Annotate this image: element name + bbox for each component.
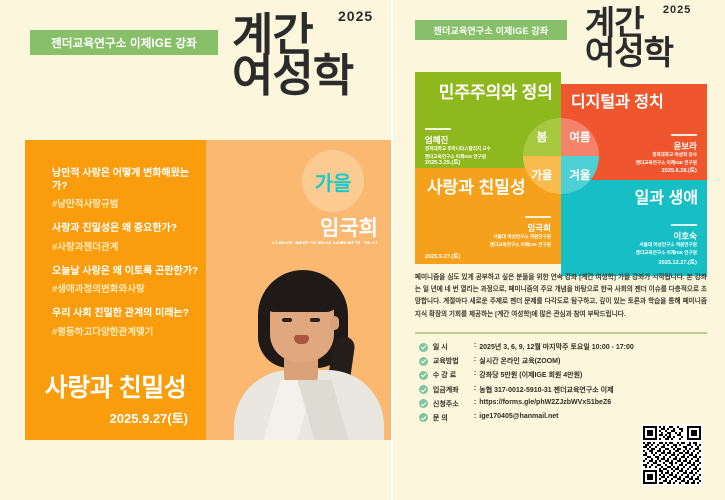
info-label: 교육방법 [433, 356, 471, 366]
signup-url[interactable]: https://forms.gle/phW2ZJzbWVxS1beZ6 [479, 399, 611, 406]
list-item: 신청주소 : https://forms.gle/phW2ZJzbWVxS1be… [419, 399, 667, 409]
page-title: 계간 여성학 [232, 14, 353, 97]
card-rule [425, 128, 451, 130]
info-value: 강좌당 5만원 (이제IGE 회원 4만원) [479, 370, 582, 380]
card-affiliation: 서울대 여성연구소 객원연구원 젠더교육연구소 이제IGE 연구원 [636, 241, 697, 257]
season-quadrant-autumn: 가을 [523, 156, 561, 194]
course-description: 페미니즘을 심도 있게 공부하고 싶은 분들을 위한 연속 강좌 [계간 여성학… [415, 272, 707, 321]
season-quadrant-summer: 여름 [561, 118, 599, 156]
info-value: 2025년 3, 6, 9, 12월 마지막주 토요일 10:00 - 17:0… [479, 342, 633, 352]
check-icon [419, 399, 428, 408]
card-date: 2025.9.27.(토) [425, 252, 460, 260]
left-lecturer-panel: 가을 임국희 서울대 협동과정여성학전공 강사 젠더교육연구소 이제IGE 연구… [206, 140, 391, 440]
list-item: 낭만적 사랑은 어떻게 변화해왔는가? #낭만적사랑규범 [52, 168, 202, 210]
card-rule [525, 216, 551, 218]
page-title: 계간 여성학 [585, 8, 673, 69]
question-text: 오늘날 사랑은 왜 이토록 곤란한가? [52, 266, 202, 279]
season-bubble: 가을 [302, 150, 364, 212]
info-separator: : [474, 399, 476, 406]
info-label: 입금계좌 [433, 385, 471, 395]
list-item: 오늘날 사랑은 왜 이토록 곤란한가? #생애과정의변화와사랑 [52, 266, 202, 296]
card-title: 일과 생애 [635, 190, 698, 208]
card-date: 2025.3.29.(토) [425, 158, 460, 166]
brand-badge: 젠더교육연구소 이제IGE 강좌 [30, 30, 218, 55]
left-poster: 젠더교육연구소 이제IGE 강좌 계간 여성학 2025 낭만적 사랑은 어떻게… [0, 0, 391, 500]
check-icon [419, 343, 428, 352]
card-winter[interactable]: 일과 생애 이호숙 서울대 여성연구소 객원연구원 젠더교육연구소 이제IGE … [561, 180, 707, 276]
list-item: 문 의 : ige170405@hanmail.net [419, 413, 667, 423]
question-hashtag: #사랑과젠더관계 [52, 239, 202, 253]
list-item: 교육방법 : 실시간 온라인 교육(ZOOM) [419, 356, 667, 366]
title-line-1: 계간 [232, 14, 353, 55]
qr-code-image [643, 426, 701, 484]
list-item: 우리 사회 친밀한 관계의 미래는? #평등하고다양한관계맺기 [52, 308, 202, 338]
lecturer-name: 임국희 [320, 212, 378, 242]
info-separator: : [474, 356, 476, 363]
question-hashtag: #평등하고다양한관계맺기 [52, 324, 202, 338]
card-title: 사랑과 친밀성 [427, 178, 526, 198]
title-line-2: 여성학 [232, 55, 353, 96]
affiliation-line-1: 서울대 여성연구소 객원연구원 [636, 241, 697, 249]
info-value: 실시간 온라인 교육(ZOOM) [479, 356, 560, 366]
lecturer-photo [206, 244, 391, 440]
affiliation-line-1: 경희대학교 여성학 강사 [636, 151, 697, 159]
question-text: 사랑과 친밀성은 왜 중요한가? [52, 223, 202, 236]
right-poster: 젠더교육연구소 이제IGE 강좌 계간 여성학 2025 민주주의와 정의 엄혜… [391, 0, 725, 500]
card-title: 디지털과 정치 [571, 94, 664, 112]
card-title: 민주주의와 정의 [439, 83, 553, 102]
hair-fringe [266, 278, 338, 312]
season-label: 가을 [315, 167, 352, 196]
info-label: 문 의 [433, 413, 471, 423]
info-separator: : [474, 385, 476, 392]
list-item: 일 시 : 2025년 3, 6, 9, 12월 마지막주 토요일 10:00 … [419, 342, 667, 352]
poster-pair-canvas: 젠더교육연구소 이제IGE 강좌 계간 여성학 2025 낭만적 사랑은 어떻게… [0, 0, 725, 500]
eye-right [310, 318, 320, 322]
info-separator: : [474, 413, 476, 420]
qr-code[interactable] [641, 424, 703, 486]
left-course-title: 사랑과 친밀성 [25, 368, 206, 404]
question-hashtag: #낭만적사랑규범 [52, 196, 202, 210]
card-date: 2025.6.28.(토) [662, 166, 697, 174]
check-icon [419, 413, 428, 422]
affiliation-line-2: 젠더교육연구소 이제IGE 연구원 [636, 249, 697, 257]
mouth [294, 335, 309, 344]
list-item: 입금계좌 : 농협 317-0012-5910-31 젠더교육연구소 이제 [419, 385, 667, 395]
brand-badge: 젠더교육연구소 이제IGE 강좌 [415, 20, 567, 40]
season-wheel: 봄 여름 가을 겨울 [523, 118, 599, 194]
check-icon [419, 371, 428, 380]
card-date: 2025.12.27.(토) [658, 258, 696, 266]
list-item: 수 강 료 : 강좌당 5만원 (이제IGE 회원 4만원) [419, 370, 667, 380]
affiliation-line-1: 경희대학교 후마니타스칼리지 교수 [425, 145, 491, 153]
course-info-list: 일 시 : 2025년 3, 6, 9, 12월 마지막주 토요일 10:00 … [419, 342, 667, 427]
check-icon [419, 385, 428, 394]
card-affiliation: 경희대학교 여성학 강사 젠더교육연구소 이제IGE 연구원 [636, 151, 697, 167]
info-separator: : [474, 370, 476, 377]
year-label: 2025 [663, 4, 691, 16]
question-text: 낭만적 사랑은 어떻게 변화해왔는가? [52, 168, 202, 193]
info-label: 신청주소 [433, 399, 471, 409]
title-line-2: 여성학 [585, 38, 673, 68]
contact-email[interactable]: ige170405@hanmail.net [479, 413, 558, 420]
question-text: 우리 사회 친밀한 관계의 미래는? [52, 308, 202, 321]
season-quadrant-spring: 봄 [523, 118, 561, 156]
check-icon [419, 357, 428, 366]
left-course-date: 2025.9.27(토) [25, 408, 206, 427]
list-item: 사랑과 친밀성은 왜 중요한가? #사랑과젠더관계 [52, 223, 202, 253]
question-list: 낭만적 사랑은 어떻게 변화해왔는가? #낭만적사랑규범 사랑과 친밀성은 왜 … [52, 168, 202, 351]
season-card-grid: 민주주의와 정의 엄혜진 경희대학교 후마니타스칼리지 교수 젠더교육연구소 이… [415, 72, 707, 264]
info-separator: : [474, 342, 476, 349]
card-rule [671, 224, 697, 226]
info-label: 일 시 [433, 342, 471, 352]
question-hashtag: #생애과정의변화와사랑 [52, 281, 202, 295]
eye-left [282, 318, 292, 322]
section-divider [415, 332, 707, 334]
card-affiliation: 서울대 여성연구소 객원연구원 젠더교육연구소 이제IGE 연구원 [490, 233, 551, 249]
info-label: 수 강 료 [433, 370, 471, 380]
card-rule [671, 134, 697, 136]
affiliation-line-2: 젠더교육연구소 이제IGE 연구원 [490, 241, 551, 249]
season-quadrant-winter: 겨울 [561, 156, 599, 194]
ear [330, 316, 339, 330]
info-value: 농협 317-0012-5910-31 젠더교육연구소 이제 [479, 385, 613, 395]
year-label: 2025 [338, 8, 373, 24]
affiliation-line-1: 서울대 여성연구소 객원연구원 [490, 233, 551, 241]
